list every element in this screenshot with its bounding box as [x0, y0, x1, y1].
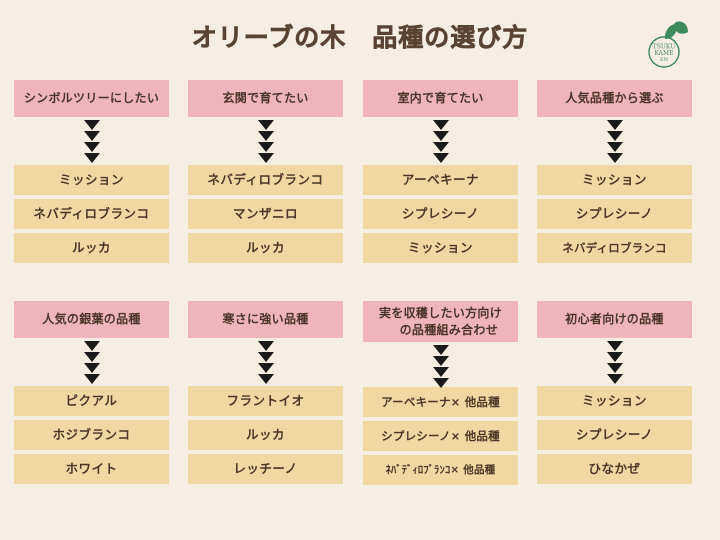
list-item[interactable]: ピクアル — [14, 386, 169, 416]
item-list: アーベキーナ シプレシーノ ミッション — [363, 165, 518, 263]
list-item[interactable]: ミッション — [537, 165, 692, 195]
chevron-down-icon — [607, 120, 623, 130]
list-item[interactable]: ネバディロブランコ — [14, 199, 169, 229]
group-header-label-line2: の品種組み合わせ — [369, 322, 512, 339]
group-header[interactable]: 人気品種から選ぶ — [537, 80, 692, 117]
chevron-down-icon — [258, 341, 274, 351]
group-header[interactable]: シンボルツリーにしたい — [14, 80, 169, 117]
arrow-stack — [14, 338, 169, 386]
group-header[interactable]: 初心者向けの品種 — [537, 301, 692, 338]
group-header-label: 玄関で育てたい — [192, 90, 339, 107]
group-header-label: 人気の銀葉の品種 — [18, 311, 165, 328]
chevron-down-icon — [258, 374, 274, 384]
chevron-down-icon — [607, 352, 623, 362]
chevron-down-icon — [84, 142, 100, 152]
chevron-down-icon — [84, 120, 100, 130]
list-item[interactable]: マンザニロ — [188, 199, 343, 229]
chevron-down-icon — [84, 341, 100, 351]
chevron-down-icon — [258, 352, 274, 362]
group-header[interactable]: 人気の銀葉の品種 — [14, 301, 169, 338]
item-list: ミッション シプレシーノ ネバディロブランコ — [537, 165, 692, 263]
group-symbol-tree: シンボルツリーにしたい ミッション ネバディロブランコ ルッカ — [14, 80, 169, 267]
group-header-label: 初心者向けの品種 — [541, 311, 688, 328]
arrow-stack — [363, 117, 518, 165]
list-item[interactable]: ひなかぜ — [537, 454, 692, 484]
group-silver-leaf: 人気の銀葉の品種 ピクアル ホジブランコ ホワイト — [14, 301, 169, 488]
arrow-stack — [188, 338, 343, 386]
list-item[interactable]: アーベキーナ — [363, 165, 518, 195]
group-indoor: 室内で育てたい アーベキーナ シプレシーノ ミッション — [363, 80, 518, 267]
chevron-down-icon — [433, 142, 449, 152]
list-item[interactable]: アーベキーナ× 他品種 — [363, 387, 518, 417]
list-item[interactable]: ルッカ — [188, 420, 343, 450]
item-list: フラントイオ ルッカ レッチーノ — [188, 386, 343, 484]
chevron-down-icon — [607, 142, 623, 152]
list-item[interactable]: ミッション — [363, 233, 518, 263]
arrow-stack — [14, 117, 169, 165]
chevron-down-icon — [607, 374, 623, 384]
chevron-down-icon — [433, 367, 449, 377]
item-list: ミッション シプレシーノ ひなかぜ — [537, 386, 692, 484]
group-header-label: 寒さに強い品種 — [192, 311, 339, 328]
group-header-label: 室内で育てたい — [367, 90, 514, 107]
item-list: ネバディロブランコ マンザニロ ルッカ — [188, 165, 343, 263]
group-header[interactable]: 寒さに強い品種 — [188, 301, 343, 338]
list-item[interactable]: シプレシーノ — [537, 199, 692, 229]
group-header-label: シンボルツリーにしたい — [18, 90, 165, 107]
arrow-stack — [537, 338, 692, 386]
group-header[interactable]: 玄関で育てたい — [188, 80, 343, 117]
chevron-down-icon — [258, 153, 274, 163]
arrow-stack — [363, 342, 518, 387]
list-item[interactable]: ホワイト — [14, 454, 169, 484]
infographic-page: オリーブの木 品種の選び方 TSUKU KAME EN シンボルツリーにしたい — [0, 0, 720, 540]
list-item[interactable]: ルッカ — [188, 233, 343, 263]
chevron-down-icon — [607, 363, 623, 373]
chevron-down-icon — [433, 345, 449, 355]
group-header[interactable]: 実を収穫したい方向け の品種組み合わせ — [363, 301, 518, 342]
groups-grid: シンボルツリーにしたい ミッション ネバディロブランコ ルッカ 玄関で育てたい — [0, 0, 720, 540]
chevron-down-icon — [433, 131, 449, 141]
chevron-down-icon — [607, 131, 623, 141]
list-item[interactable]: ﾈﾊﾞﾃﾞｨﾛﾌﾞﾗﾝｺ× 他品種 — [363, 455, 518, 485]
list-item[interactable]: シプレシーノ× 他品種 — [363, 421, 518, 451]
chevron-down-icon — [258, 131, 274, 141]
group-fruit-harvest: 実を収穫したい方向け の品種組み合わせ アーベキーナ× 他品種 シプレシーノ× … — [363, 301, 518, 489]
list-item[interactable]: ネバディロブランコ — [188, 165, 343, 195]
item-list: ピクアル ホジブランコ ホワイト — [14, 386, 169, 484]
group-popular: 人気品種から選ぶ ミッション シプレシーノ ネバディロブランコ — [537, 80, 692, 267]
arrow-stack — [537, 117, 692, 165]
group-header[interactable]: 室内で育てたい — [363, 80, 518, 117]
chevron-down-icon — [84, 153, 100, 163]
list-item[interactable]: レッチーノ — [188, 454, 343, 484]
chevron-down-icon — [258, 363, 274, 373]
chevron-down-icon — [84, 352, 100, 362]
chevron-down-icon — [84, 131, 100, 141]
list-item[interactable]: ミッション — [14, 165, 169, 195]
chevron-down-icon — [433, 153, 449, 163]
list-item[interactable]: ネバディロブランコ — [537, 233, 692, 263]
item-list: アーベキーナ× 他品種 シプレシーノ× 他品種 ﾈﾊﾞﾃﾞｨﾛﾌﾞﾗﾝｺ× 他品… — [363, 387, 518, 485]
group-header-label-line1: 実を収穫したい方向け — [369, 305, 512, 322]
chevron-down-icon — [258, 142, 274, 152]
item-list: ミッション ネバディロブランコ ルッカ — [14, 165, 169, 263]
list-item[interactable]: ルッカ — [14, 233, 169, 263]
chevron-down-icon — [258, 120, 274, 130]
chevron-down-icon — [607, 153, 623, 163]
list-item[interactable]: フラントイオ — [188, 386, 343, 416]
list-item[interactable]: ミッション — [537, 386, 692, 416]
arrow-stack — [188, 117, 343, 165]
chevron-down-icon — [607, 341, 623, 351]
chevron-down-icon — [84, 363, 100, 373]
group-entrance: 玄関で育てたい ネバディロブランコ マンザニロ ルッカ — [188, 80, 343, 267]
group-header-label: 人気品種から選ぶ — [541, 90, 688, 107]
group-beginner: 初心者向けの品種 ミッション シプレシーノ ひなかぜ — [537, 301, 692, 488]
chevron-down-icon — [433, 356, 449, 366]
chevron-down-icon — [433, 120, 449, 130]
group-cold-hardy: 寒さに強い品種 フラントイオ ルッカ レッチーノ — [188, 301, 343, 488]
list-item[interactable]: シプレシーノ — [537, 420, 692, 450]
list-item[interactable]: シプレシーノ — [363, 199, 518, 229]
chevron-down-icon — [84, 374, 100, 384]
list-item[interactable]: ホジブランコ — [14, 420, 169, 450]
